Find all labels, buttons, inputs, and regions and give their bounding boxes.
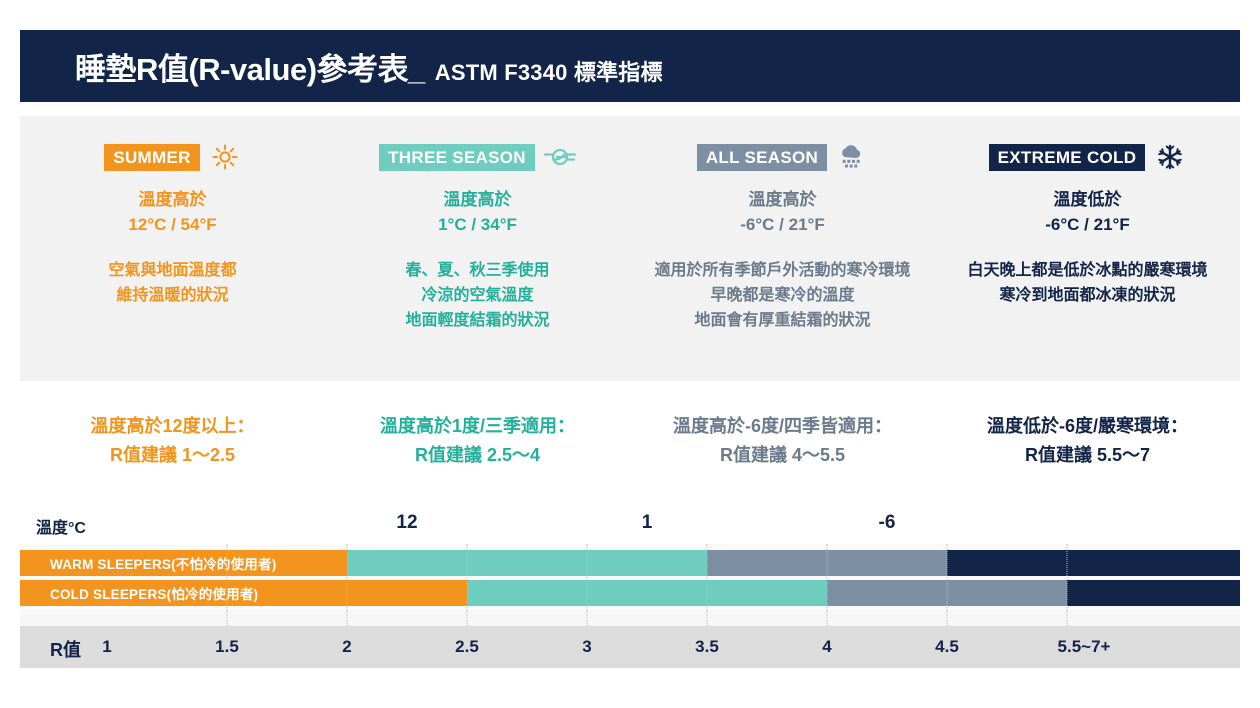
rvalue-axis-label: R值 bbox=[50, 636, 81, 662]
recommendation-all-season: 溫度高於-6度/四季皆適用： R值建議 4〜5.5 bbox=[630, 412, 935, 470]
leaf-wind-icon bbox=[544, 142, 576, 172]
all-season-desc-line: 地面會有厚重結霜的狀況 bbox=[654, 309, 910, 334]
recommendation-all-season-line1: 溫度高於-6度/四季皆適用： bbox=[630, 412, 935, 441]
three-season-temp-line2: 1°C / 34°F bbox=[438, 213, 517, 238]
recommendation-summer-line1: 溫度高於12度以上： bbox=[20, 412, 325, 441]
season-column-three-season: THREE SEASON 溫度高於 1°C / bbox=[325, 142, 630, 381]
extreme-cold-desc-line: 寒冷到地面都冰凍的狀況 bbox=[967, 284, 1207, 309]
infographic-page: 睡墊R值(R-value)參考表_ ASTM F3340 標準指標 SUMMER bbox=[0, 0, 1260, 708]
summer-temp-line2: 12°C / 54°F bbox=[128, 213, 216, 238]
page-subtitle: ASTM F3340 標準指標 bbox=[435, 55, 663, 87]
three-season-desc-line: 冷涼的空氣溫度 bbox=[405, 284, 549, 309]
recommendation-extreme-cold-line1: 溫度低於-6度/嚴寒環境： bbox=[935, 412, 1240, 441]
temperature-tick-minus6: -6 bbox=[879, 512, 896, 534]
temperature-axis: 溫度°C 12 1 -6 bbox=[20, 512, 1240, 544]
snow-cloud-icon bbox=[836, 142, 868, 172]
recommendation-all-season-line2: R值建議 4〜5.5 bbox=[630, 441, 935, 470]
badge-summer: SUMMER bbox=[104, 144, 199, 171]
rvalue-tick-4: 4 bbox=[822, 637, 831, 657]
rvalue-tick-2-5: 2.5 bbox=[455, 637, 479, 657]
rvalue-axis: R值 1 1.5 2 2.5 3 3.5 4 4.5 5.5~7+ bbox=[20, 626, 1240, 668]
extreme-cold-description: 白天晚上都是低於冰點的嚴寒環境 寒冷到地面都冰凍的狀況 bbox=[967, 259, 1207, 309]
summer-temp-line1: 溫度高於 bbox=[128, 188, 216, 213]
recommendation-three-season-line1: 溫度高於1度/三季適用： bbox=[325, 412, 630, 441]
recommendation-extreme-cold: 溫度低於-6度/嚴寒環境： R值建議 5.5〜7 bbox=[935, 412, 1240, 470]
rvalue-tick-4-5: 4.5 bbox=[935, 637, 959, 657]
rvalue-tick-3: 3 bbox=[582, 637, 591, 657]
summer-temperature: 溫度高於 12°C / 54°F bbox=[128, 188, 216, 237]
bars-area: WARM SLEEPERS(不怕冷的使用者) COLD SLEEPERS(怕冷的… bbox=[20, 544, 1240, 626]
rvalue-tick-2: 2 bbox=[342, 637, 351, 657]
extreme-cold-temp-line2: -6°C / 21°F bbox=[1045, 213, 1129, 238]
rvalue-tick-3-5: 3.5 bbox=[695, 637, 719, 657]
summer-desc-line: 維持溫暖的狀況 bbox=[108, 284, 236, 309]
season-column-summer: SUMMER bbox=[20, 142, 325, 381]
recommendation-summer: 溫度高於12度以上： R值建議 1〜2.5 bbox=[20, 412, 325, 470]
rvalue-tick-1-5: 1.5 bbox=[215, 637, 239, 657]
summer-description: 空氣與地面溫度都 維持溫暖的狀況 bbox=[108, 259, 236, 309]
temperature-axis-label: 溫度°C bbox=[36, 514, 86, 538]
all-season-temp-line2: -6°C / 21°F bbox=[740, 213, 824, 238]
recommendation-extreme-cold-line2: R值建議 5.5〜7 bbox=[935, 441, 1240, 470]
season-column-all-season: ALL SEASON bbox=[630, 142, 935, 381]
badge-three-season: THREE SEASON bbox=[379, 144, 535, 171]
recommendation-three-season-line2: R值建議 2.5〜4 bbox=[325, 441, 630, 470]
recommendation-summer-line2: R值建議 1〜2.5 bbox=[20, 441, 325, 470]
all-season-temperature: 溫度高於 -6°C / 21°F bbox=[740, 188, 824, 237]
extreme-cold-temp-line1: 溫度低於 bbox=[1045, 188, 1129, 213]
sun-icon bbox=[209, 142, 241, 172]
three-season-description: 春、夏、秋三季使用 冷涼的空氣溫度 地面輕度結霜的狀況 bbox=[405, 259, 549, 333]
rvalue-chart: 溫度°C 12 1 -6 WARM SLEEPERS(不怕冷的使用者) COLD bbox=[20, 512, 1240, 668]
badge-extreme-cold: EXTREME COLD bbox=[989, 144, 1146, 171]
title-bar: 睡墊R值(R-value)參考表_ ASTM F3340 標準指標 bbox=[20, 30, 1240, 102]
chart-gridlines bbox=[20, 544, 1240, 626]
all-season-desc-line: 適用於所有季節戶外活動的寒冷環境 bbox=[654, 259, 910, 284]
season-panel: SUMMER bbox=[20, 116, 1240, 381]
season-column-extreme-cold: EXTREME COLD bbox=[935, 142, 1240, 381]
three-season-desc-line: 春、夏、秋三季使用 bbox=[405, 259, 549, 284]
three-season-temperature: 溫度高於 1°C / 34°F bbox=[438, 188, 517, 237]
page-title: 睡墊R值(R-value)參考表_ bbox=[75, 44, 425, 89]
snowflake-icon bbox=[1154, 142, 1186, 172]
extreme-cold-temperature: 溫度低於 -6°C / 21°F bbox=[1045, 188, 1129, 237]
recommendation-row: 溫度高於12度以上： R值建議 1〜2.5 溫度高於1度/三季適用： R值建議 … bbox=[20, 412, 1240, 470]
summer-desc-line: 空氣與地面溫度都 bbox=[108, 259, 236, 284]
extreme-cold-desc-line: 白天晚上都是低於冰點的嚴寒環境 bbox=[967, 259, 1207, 284]
three-season-temp-line1: 溫度高於 bbox=[438, 188, 517, 213]
temperature-tick-1: 1 bbox=[642, 512, 653, 534]
all-season-temp-line1: 溫度高於 bbox=[740, 188, 824, 213]
all-season-desc-line: 早晚都是寒冷的溫度 bbox=[654, 284, 910, 309]
rvalue-tick-1: 1 bbox=[102, 637, 111, 657]
badge-all-season: ALL SEASON bbox=[697, 144, 827, 171]
rvalue-tick-5-5-to-7: 5.5~7+ bbox=[1058, 637, 1111, 657]
all-season-description: 適用於所有季節戶外活動的寒冷環境 早晚都是寒冷的溫度 地面會有厚重結霜的狀況 bbox=[654, 259, 910, 333]
recommendation-three-season: 溫度高於1度/三季適用： R值建議 2.5〜4 bbox=[325, 412, 630, 470]
temperature-tick-12: 12 bbox=[396, 512, 417, 534]
three-season-desc-line: 地面輕度結霜的狀況 bbox=[405, 309, 549, 334]
